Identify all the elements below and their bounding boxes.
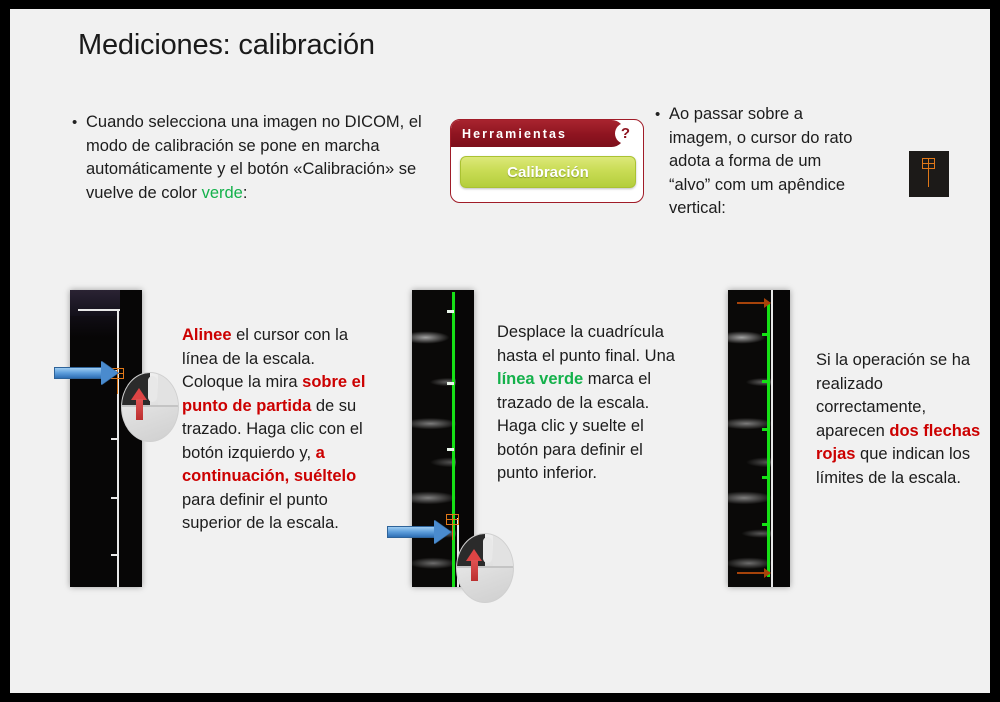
mouse-wheel xyxy=(483,537,492,563)
scale-line-panel-2 xyxy=(452,292,455,587)
bullet-left-text: Cuando selecciona una imagen no DICOM, e… xyxy=(86,111,422,205)
pointer-arrow-2 xyxy=(387,520,451,544)
caption-1-seg1: Alinee xyxy=(182,326,232,344)
slide-canvas: Mediciones: calibración • Cuando selecci… xyxy=(10,9,990,693)
caption-2-seg2: línea verde xyxy=(497,370,583,388)
caption-step-2: Desplace la cuadrícula hasta el punto fi… xyxy=(497,321,687,486)
bullet-marker: • xyxy=(655,103,669,126)
bullet-right-text: Ao passar sobre a imagem, o cursor do ra… xyxy=(669,103,855,221)
mouse-right-button xyxy=(493,534,514,566)
page-title: Mediciones: calibración xyxy=(78,29,375,62)
caption-2-seg1: Desplace la cuadrícula hasta el punto fi… xyxy=(497,323,675,365)
caption-step-1: Alinee el cursor con la línea de la esca… xyxy=(182,324,378,536)
bullet-left-dicom: • Cuando selecciona una imagen no DICOM,… xyxy=(72,111,422,205)
question-mark-icon[interactable]: ? xyxy=(615,123,636,144)
release-up-arrow-icon xyxy=(131,388,147,420)
scale-line-panel-3 xyxy=(767,302,770,577)
bullet-left-line4-post: : xyxy=(243,184,248,202)
bullet-marker: • xyxy=(72,111,86,134)
cursor-swatch xyxy=(909,151,949,197)
calibration-button-label: Calibración xyxy=(507,164,589,181)
limit-arrow-top xyxy=(737,298,770,308)
mouse-release-icon-2 xyxy=(456,533,514,603)
calibration-button[interactable]: Calibración xyxy=(460,156,636,188)
mouse-release-icon-1 xyxy=(121,372,179,442)
bullet-left-highlight-verde: verde xyxy=(202,184,243,202)
limit-arrow-bottom xyxy=(737,568,770,578)
tools-panel[interactable]: Herramientas ? Calibración xyxy=(450,119,644,203)
slide-frame: Mediciones: calibración • Cuando selecci… xyxy=(0,0,1000,702)
caption-step-3: Si la operación se ha realizado correcta… xyxy=(816,349,990,490)
release-up-arrow-icon xyxy=(466,549,482,581)
caption-1-seg6: para definir el punto superior de la esc… xyxy=(182,491,339,533)
mouse-wheel xyxy=(148,376,157,402)
tools-panel-header: Herramientas xyxy=(451,120,625,147)
mouse-right-button xyxy=(158,373,179,405)
bullet-left-line3: automáticamente y el botón «Calibración» xyxy=(86,160,394,178)
pointer-arrow-1 xyxy=(54,361,118,385)
ultrasound-panel-3 xyxy=(728,290,790,587)
crosshair-grid-cursor-icon xyxy=(922,158,935,184)
scale-line-panel-1 xyxy=(117,309,119,587)
bullet-right-cursor: • Ao passar sobre a imagem, o cursor do … xyxy=(655,103,855,221)
bullet-left-line1: Cuando selecciona una imagen no DICOM, xyxy=(86,113,404,131)
tools-panel-title: Herramientas xyxy=(451,127,567,141)
